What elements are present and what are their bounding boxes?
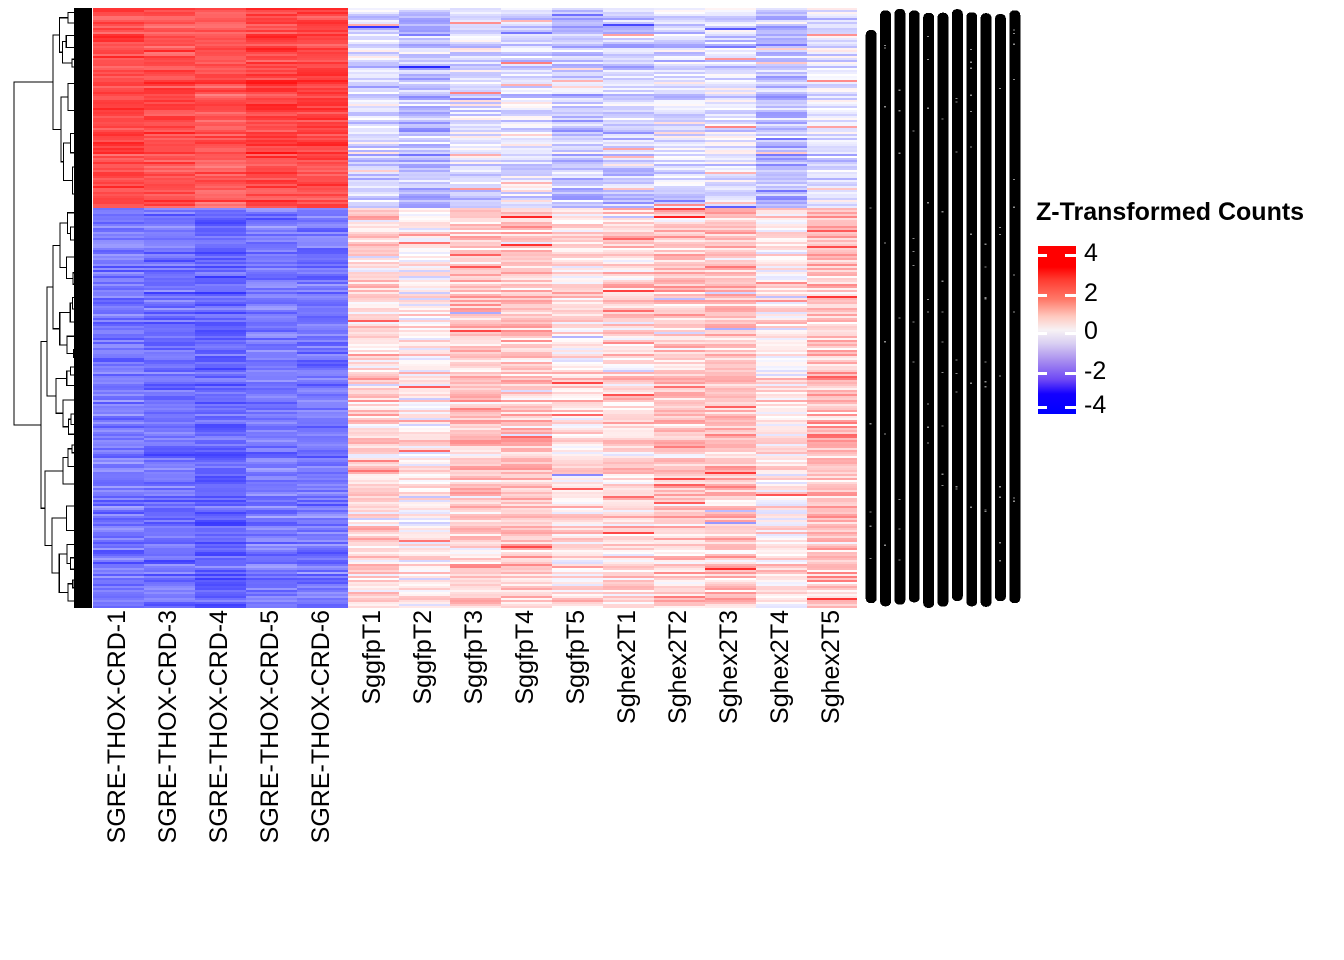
colorbar-label-2: 2 (1084, 281, 1098, 306)
column-label-sghex2t5: Sghex2T5 (819, 610, 844, 724)
colorbar-tick-0-right (1065, 332, 1076, 335)
colorbar-tick-0-left (1038, 332, 1047, 335)
colorbar-tick-neg2-left (1038, 372, 1047, 375)
colorbar-gradient (1038, 246, 1076, 414)
row-label-column (864, 8, 1022, 608)
colorbar-label-0: 0 (1084, 319, 1098, 344)
column-label-sggfpt5: SggfpT5 (564, 610, 589, 705)
column-label-sgre-thox-crd-5: SGRE-THOX-CRD-5 (258, 610, 283, 843)
column-label-sghex2t2: Sghex2T2 (666, 610, 691, 724)
row-dendrogram-svg (12, 8, 92, 608)
colorbar-label-4: 4 (1084, 241, 1098, 266)
colorbar-tick-neg4-left (1038, 406, 1047, 409)
column-label-sghex2t4: Sghex2T4 (768, 610, 793, 724)
legend-title: Z-Transformed Counts (1036, 198, 1304, 227)
colorbar-tick-4-left (1038, 254, 1047, 257)
column-label-sggfpt3: SggfpT3 (462, 610, 487, 705)
figure-canvas: SGRE-THOX-CRD-1 SGRE-THOX-CRD-3 SGRE-THO… (0, 0, 1344, 960)
colorbar-tick-neg4-right (1065, 406, 1076, 409)
row-label-bars-svg (864, 8, 1022, 608)
column-label-sghex2t1: Sghex2T1 (615, 610, 640, 724)
legend: Z-Transformed Counts 4 2 0 -2 -4 (1036, 198, 1336, 428)
column-label-sgre-thox-crd-6: SGRE-THOX-CRD-6 (309, 610, 334, 843)
column-label-sgre-thox-crd-3: SGRE-THOX-CRD-3 (156, 610, 181, 843)
heatmap-panel (93, 8, 857, 608)
column-label-sggfpt1: SggfpT1 (360, 610, 385, 705)
colorbar-tick-2-right (1065, 294, 1076, 297)
colorbar-label-neg4: -4 (1084, 393, 1106, 418)
column-label-sgre-thox-crd-4: SGRE-THOX-CRD-4 (207, 610, 232, 843)
column-label-sghex2t3: Sghex2T3 (717, 610, 742, 724)
column-label-axis: SGRE-THOX-CRD-1 SGRE-THOX-CRD-3 SGRE-THO… (93, 610, 857, 940)
row-dendrogram (12, 8, 92, 608)
column-label-sgre-thox-crd-1: SGRE-THOX-CRD-1 (105, 610, 130, 843)
colorbar-tick-neg2-right (1065, 372, 1076, 375)
column-label-sggfpt4: SggfpT4 (513, 610, 538, 705)
colorbar[interactable]: 4 2 0 -2 -4 (1038, 246, 1080, 416)
colorbar-tick-4-right (1065, 254, 1076, 257)
column-label-sggfpt2: SggfpT2 (411, 610, 436, 705)
heatmap-canvas[interactable] (93, 8, 857, 608)
colorbar-tick-2-left (1038, 294, 1047, 297)
colorbar-label-neg2: -2 (1084, 359, 1106, 384)
